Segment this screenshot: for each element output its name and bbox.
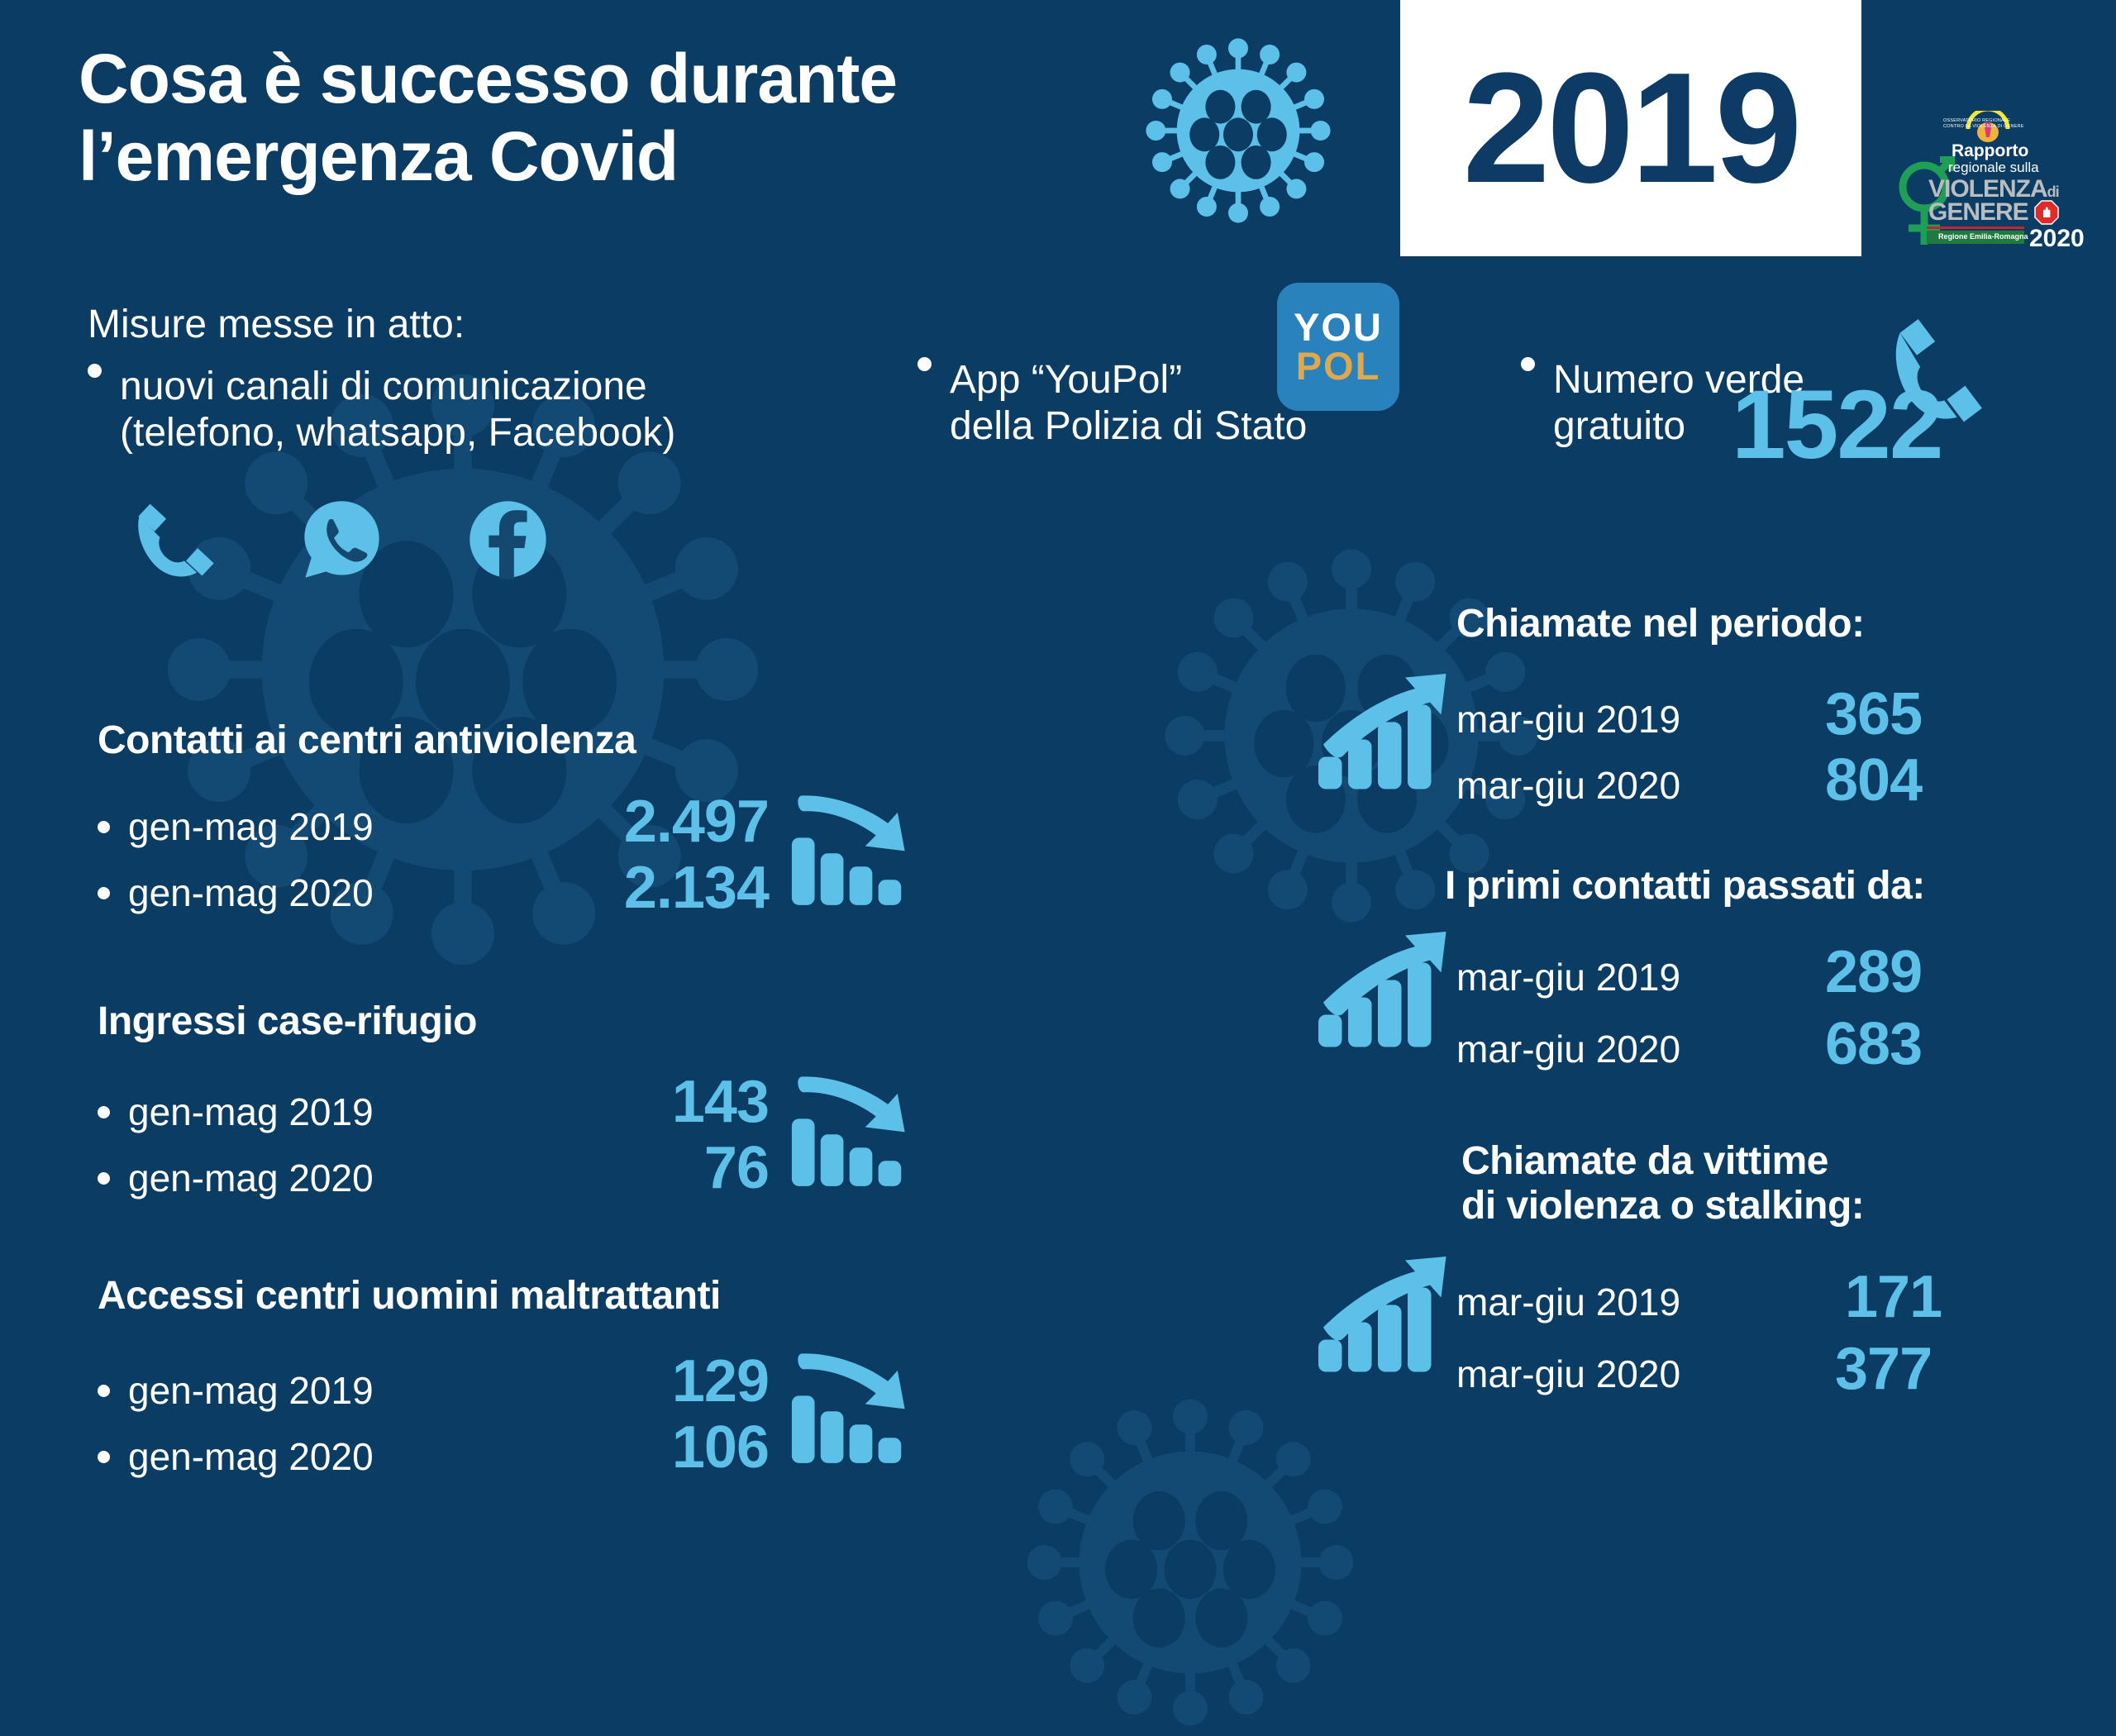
- stat-label-chiamate-2020: mar-giu 2020: [1456, 763, 1680, 808]
- chart-title-chiamate: Chiamate nel periodo:: [1456, 602, 1865, 646]
- bullet-dot-icon: [1521, 357, 1535, 371]
- logo-region: Regione Emilia-Romagna: [1938, 232, 2028, 241]
- stat-value-contatti-2019: 2.497: [496, 792, 769, 851]
- youpol-line2: della Polizia di Stato: [950, 403, 1307, 450]
- misure-channels-line1: nuovi canali di comunicazione: [120, 364, 675, 410]
- chart-title-vittime: Chiamate da vittime di violenza o stalki…: [1461, 1139, 1864, 1228]
- stat-value-vittime-2020: 377: [1835, 1339, 1932, 1399]
- stat-label: gen-mag 2019: [128, 804, 374, 849]
- logo-rapporto: Rapporto: [1952, 142, 2028, 160]
- bullet-dot-icon: [98, 1385, 110, 1397]
- year-value: 2019: [1463, 50, 1799, 207]
- stat-row-contatti-2019: gen-mag 2019: [98, 804, 374, 849]
- misure-bullet-channels: nuovi canali di comunicazione (telefono,…: [88, 364, 832, 456]
- stat-value-primi-2019: 289: [1825, 942, 1922, 1002]
- misure-channels-line2: (telefono, whatsapp, Facebook): [120, 410, 675, 456]
- stat-value-ingressi-2020: 76: [496, 1138, 769, 1198]
- stat-label-primi-2019: mar-giu 2019: [1456, 955, 1680, 999]
- bullet-dot-icon: [917, 357, 932, 371]
- stat-label: gen-mag 2019: [128, 1090, 374, 1134]
- bullet-dot-icon: [98, 1451, 110, 1463]
- bar-chart-down-icon: [789, 785, 922, 913]
- stat-label: gen-mag 2019: [128, 1368, 374, 1413]
- stat-row-ingressi-2020: gen-mag 2020: [98, 1156, 374, 1200]
- stat-label: gen-mag 2020: [128, 1434, 374, 1479]
- page-title-line1: Cosa è successo durante: [79, 40, 1137, 117]
- stat-label-vittime-2020: mar-giu 2020: [1456, 1352, 1680, 1396]
- stat-value-accessi-2019: 129: [496, 1352, 769, 1411]
- bullet-dot-icon: [88, 364, 102, 378]
- social-channel-icons: [132, 496, 551, 587]
- stat-row-ingressi-2019: gen-mag 2019: [98, 1090, 374, 1134]
- stat-value-ingressi-2019: 143: [496, 1072, 769, 1132]
- chart-title-ingressi: Ingressi case-rifugio: [98, 999, 477, 1044]
- observatory-text: OSSERVATORIO REGIONALE CONTRO LA VIOLENZ…: [1943, 118, 2024, 131]
- logo-regionale: regionale sulla: [1948, 160, 2039, 174]
- stat-value-accessi-2020: 106: [496, 1418, 769, 1477]
- bar-chart-up-icon: [1316, 1248, 1452, 1381]
- stat-label-vittime-2019: mar-giu 2019: [1456, 1280, 1680, 1324]
- watermark-coronavirus-bottom: [1017, 1389, 1364, 1736]
- chart-title-vittime-line2: di violenza o stalking:: [1461, 1184, 1864, 1228]
- chart-title-accessi: Accessi centri uomini maltrattanti: [98, 1273, 721, 1319]
- infographic-root: Cosa è successo durante l’emergenza Covi…: [0, 0, 2116, 1587]
- numero-verde-value: 1522: [1732, 376, 1942, 474]
- page-title: Cosa è successo durante l’emergenza Covi…: [79, 40, 1137, 195]
- phone-icon: [132, 496, 219, 587]
- bullet-dot-icon: [98, 1172, 110, 1185]
- stat-value-primi-2020: 683: [1825, 1014, 1922, 1074]
- bar-chart-up-icon: [1316, 923, 1452, 1056]
- coronavirus-icon: [1139, 31, 1337, 234]
- stat-value-vittime-2019: 171: [1845, 1267, 1942, 1327]
- chart-title-primi-contatti: I primi contatti passati da:: [1445, 864, 1925, 909]
- stat-label: gen-mag 2020: [128, 870, 374, 915]
- report-logo: OSSERVATORIO REGIONALE CONTRO LA VIOLENZ…: [1897, 109, 2104, 262]
- logo-genere: GENERE: [1928, 200, 2028, 225]
- chart-title-vittime-line1: Chiamate da vittime: [1461, 1139, 1864, 1184]
- logo-divider: [1927, 227, 2024, 229]
- stat-label: gen-mag 2020: [128, 1156, 374, 1200]
- misure-heading: Misure messe in atto:: [88, 302, 465, 347]
- facebook-icon: [465, 496, 551, 587]
- page-title-line2: l’emergenza Covid: [79, 117, 1137, 195]
- bar-chart-down-icon: [789, 1066, 922, 1195]
- youpol-line1: App “YouPol”: [950, 357, 1307, 403]
- stat-row-contatti-2020: gen-mag 2020: [98, 870, 374, 915]
- bullet-dot-icon: [98, 1106, 110, 1118]
- youpol-app-icon[interactable]: YOU POL: [1277, 283, 1399, 411]
- bullet-dot-icon: [98, 887, 110, 899]
- stat-label-primi-2020: mar-giu 2020: [1456, 1027, 1680, 1071]
- bullet-dot-icon: [98, 821, 110, 833]
- whatsapp-icon: [298, 496, 385, 587]
- stat-value-contatti-2020: 2.134: [496, 858, 769, 918]
- stat-value-chiamate-2019: 365: [1825, 684, 1922, 744]
- chart-title-contatti: Contatti ai centri antiviolenza: [98, 718, 636, 763]
- youpol-pol-label: POL: [1296, 347, 1381, 385]
- youpol-you-label: YOU: [1294, 308, 1383, 346]
- stat-label-chiamate-2019: mar-giu 2019: [1456, 697, 1680, 742]
- bar-chart-down-icon: [789, 1343, 922, 1471]
- logo-year: 2020: [2029, 227, 2085, 251]
- stat-row-accessi-2020: gen-mag 2020: [98, 1434, 374, 1479]
- bar-chart-up-icon: [1316, 665, 1452, 798]
- stat-row-accessi-2019: gen-mag 2019: [98, 1368, 374, 1413]
- stat-value-chiamate-2020: 804: [1825, 751, 1922, 810]
- year-badge: 2019: [1400, 0, 1861, 256]
- stop-hand-icon: [2034, 200, 2059, 225]
